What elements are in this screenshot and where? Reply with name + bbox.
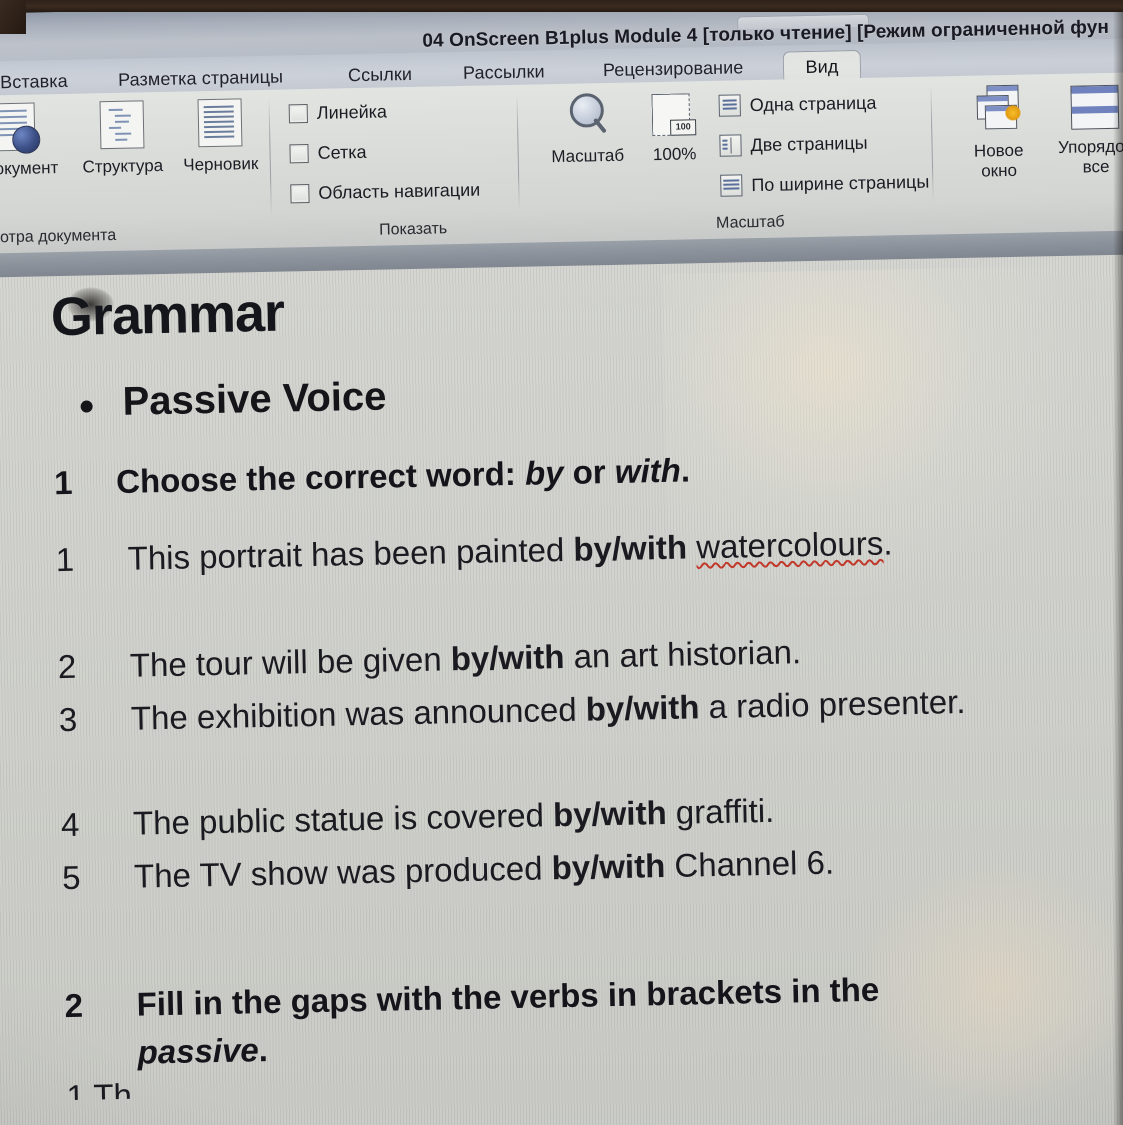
new-window-icon	[953, 84, 1042, 139]
gridlines-checkbox[interactable]	[289, 144, 308, 163]
magnifier-icon	[538, 92, 635, 149]
ribbon-button-outline-label: Структура	[75, 156, 171, 178]
navigation-pane-checkbox[interactable]	[290, 184, 309, 203]
item-pre: The tour will be given	[129, 640, 451, 683]
item-post: Channel 6.	[665, 844, 835, 884]
two-pages-label: Две страницы	[750, 132, 867, 155]
page-width-label: По ширине страницы	[751, 171, 929, 196]
list-item: 4 The public statue is covered by/with g…	[61, 786, 1062, 844]
ribbon-button-zoom-label: Масштаб	[540, 145, 636, 167]
exercise-1-prompt: 1Choose the correct word: by or with.	[54, 451, 691, 502]
document-body: Grammar Passive Voice 1Choose the correc…	[0, 254, 1123, 1125]
monitor-bezel-top	[0, 0, 1123, 12]
item-post: an art historian.	[564, 633, 801, 675]
item-text: The TV show was produced by/with Channel…	[134, 839, 1065, 895]
one-page-icon	[719, 94, 741, 116]
exercise-2-prompt-a: Fill in the gaps with the verbs in brack…	[136, 971, 879, 1023]
arrange-all-label-line2: все	[1050, 156, 1123, 178]
ribbon-button-outline[interactable]: Структура	[74, 100, 172, 178]
ribbon-button-arrange-all[interactable]: Упорядоч все	[1048, 84, 1123, 178]
two-pages-icon	[719, 134, 741, 156]
subheading-passive-voice: Passive Voice	[80, 375, 387, 426]
new-window-label-line1: Новое	[955, 140, 1043, 162]
page-width-button[interactable]: По ширине страницы	[720, 171, 929, 197]
checkbox-row-ruler[interactable]: Линейка	[289, 101, 388, 124]
item-pre: The TV show was produced	[134, 849, 552, 894]
item-text: The exhibition was announced by/with a r…	[131, 681, 1060, 737]
item-text: The tour will be given by/with an art hi…	[129, 628, 1058, 684]
list-item: 1 This portrait has been painted by/with…	[55, 522, 1036, 579]
exercise-1-prompt-or: or	[563, 453, 615, 491]
exercise-2-prompt: 2 Fill in the gaps with the verbs in bra…	[64, 964, 966, 1078]
bullet-dot-icon	[81, 400, 93, 412]
item-post: a radio presenter.	[699, 683, 966, 725]
item-number: 2	[57, 647, 104, 686]
two-pages-button[interactable]: Две страницы	[719, 132, 867, 157]
misspelled-word: watercolours	[696, 525, 884, 566]
exercise-1-number: 1	[54, 463, 117, 502]
item-choice: by/with	[551, 847, 665, 886]
item-pre: The public statue is covered	[133, 796, 554, 841]
item-choice: by/with	[585, 688, 699, 727]
item-number: 5	[62, 858, 109, 897]
outline-view-icon	[74, 100, 171, 155]
group-label-document-views: росмотра документа	[0, 227, 116, 248]
arrange-all-label-line1: Упорядоч	[1049, 136, 1123, 158]
new-window-label-line2: окно	[955, 160, 1043, 182]
ruler-label: Линейка	[317, 101, 388, 123]
item-text: The public statue is covered by/with gra…	[133, 786, 1062, 842]
group-separator	[268, 98, 271, 216]
ribbon-button-draft-label: Черновик	[173, 154, 269, 176]
ribbon-button-new-window[interactable]: Новое окно	[953, 84, 1043, 182]
ruler-checkbox[interactable]	[289, 104, 308, 123]
document-page[interactable]: Grammar Passive Voice 1Choose the correc…	[0, 254, 1123, 1125]
item-pre: The exhibition was announced	[131, 691, 587, 737]
group-separator	[930, 85, 933, 203]
item-number: 1	[55, 540, 102, 579]
item-number: 4	[61, 805, 108, 844]
gridlines-label: Сетка	[317, 142, 366, 164]
screen-photo: 04 OnScreen B1plus Module 4 [только чтен…	[0, 0, 1123, 1125]
item-choice: by/with	[573, 529, 687, 568]
checkbox-row-gridlines[interactable]: Сетка	[289, 142, 366, 165]
arrange-all-icon	[1048, 84, 1123, 135]
group-label-zoom: Масштаб	[716, 213, 785, 232]
exercise-2-prompt-end: .	[258, 1031, 268, 1068]
ribbon-button-zoom-100[interactable]: 100 100%	[633, 91, 714, 166]
group-label-show: Показать	[379, 220, 447, 239]
zoom-100-page-icon: 100	[633, 91, 714, 148]
exercise-1-prompt-by: by	[525, 454, 564, 492]
monitor-screen-content: 04 OnScreen B1plus Module 4 [только чтен…	[0, 0, 1123, 1125]
exercise-2-number: 2	[64, 982, 83, 1030]
item-number: 3	[59, 700, 106, 739]
navigation-pane-label: Область навигации	[318, 180, 480, 204]
exercise-2-text: Fill in the gaps with the verbs in brack…	[136, 965, 938, 1077]
item-choice: by/with	[553, 794, 667, 833]
page-width-icon	[720, 174, 742, 196]
item-post-tail: .	[883, 524, 893, 561]
list-item: 2 The tour will be given by/with an art …	[57, 628, 1058, 686]
item-post: graffiti.	[666, 792, 774, 831]
group-separator	[516, 93, 519, 211]
monitor-bezel-corner	[0, 0, 26, 34]
item-choice: by/with	[450, 638, 564, 677]
list-item: 5 The TV show was produced by/with Chann…	[62, 839, 1073, 897]
page-title: Grammar	[50, 282, 284, 349]
draft-view-icon	[172, 98, 269, 153]
exercise-1-prompt-end: .	[680, 451, 690, 488]
exercise-1-prompt-a: Choose the correct word:	[116, 455, 526, 500]
ribbon-button-zoom[interactable]: Масштаб	[538, 92, 635, 167]
ribbon-button-draft[interactable]: Черновик	[172, 98, 270, 176]
checkbox-row-navigation-pane[interactable]: Область навигации	[290, 180, 480, 205]
item-pre: This portrait has been painted	[127, 531, 573, 577]
ribbon-button-web-layout[interactable]: б-документ	[0, 102, 64, 180]
item-text: This portrait has been painted by/with w…	[127, 522, 1036, 578]
one-page-button[interactable]: Одна страница	[719, 92, 877, 117]
list-item: 3 The exhibition was announced by/with a…	[59, 681, 1060, 739]
ribbon-view: б-документ Структура	[0, 72, 1123, 256]
one-page-label: Одна страница	[750, 92, 877, 116]
exercise-2-prompt-italic: passive	[137, 1031, 259, 1070]
exercise-1-prompt-with: with	[614, 452, 681, 490]
zoom-level-label: 100%	[635, 144, 715, 166]
web-layout-icon	[0, 102, 64, 157]
ribbon-button-web-layout-label: б-документ	[0, 158, 64, 180]
subheading-label: Passive Voice	[122, 375, 387, 424]
